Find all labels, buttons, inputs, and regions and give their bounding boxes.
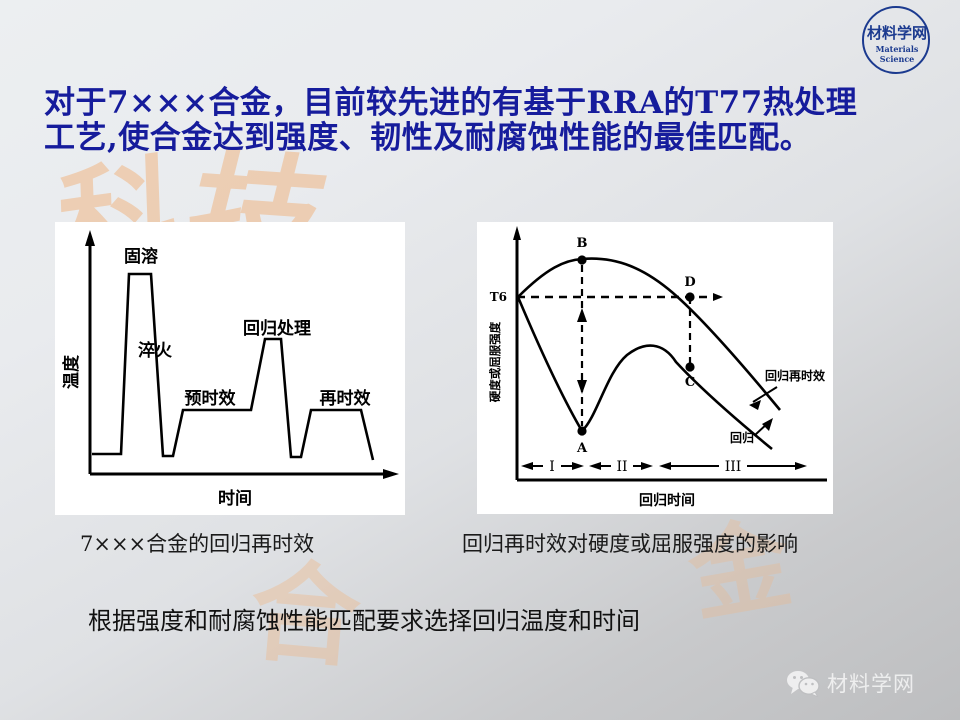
wechat-watermark: 材料学网 (786, 668, 915, 698)
ab-arrow-down-icon (577, 380, 587, 394)
headline-seg-b: 的 (664, 85, 696, 121)
heat-treatment-chart: 温度 时间 固溶 淬火 预时效 回归处理 再时效 (55, 222, 405, 515)
retrogression-effect-chart: T6 B A C D 回归再时效 回归 I (477, 222, 833, 514)
figure-heat-treatment-profile: 温度 时间 固溶 淬火 预时效 回归处理 再时效 (55, 222, 405, 515)
annotation-solution-treatment: 固溶 (124, 246, 158, 267)
wechat-icon (786, 669, 820, 697)
bottom-note: 根据强度和耐腐蚀性能匹配要求选择回归温度和时间 (88, 601, 640, 636)
figure-caption-left: 7×××合金的回归再时效 (80, 528, 314, 558)
x-axis-label: 回归时间 (639, 492, 695, 509)
annotation-retrogression: 回归处理 (243, 318, 311, 339)
logo-chinese-text: 材料学网 (864, 22, 930, 43)
brand-logo: 材料学网 Materials Science (854, 6, 942, 74)
page-title: 对于7×××合金，目前较先进的有基于RRA的T77热处理 工艺,使合金达到强度、… (44, 86, 914, 156)
point-label-d: D (684, 275, 695, 290)
y-axis-arrow-icon (513, 226, 521, 240)
temperature-profile-curve (92, 274, 373, 460)
headline-line-1: 对于7×××合金，目前较先进的有基于RRA的T77热处理 (44, 86, 914, 121)
data-point-d (685, 292, 694, 301)
figure-retrogression-effect: T6 B A C D 回归再时效 回归 I (477, 222, 833, 514)
region-markers: I II III (521, 459, 807, 475)
x-axis-arrow-icon (383, 469, 399, 479)
point-label-b: B (577, 236, 588, 251)
annotation-arrow-retro-icon (762, 418, 773, 431)
headline-emphasis-t77: T77 (695, 85, 763, 121)
annotation-re-aging: 再时效 (320, 388, 371, 409)
headline-seg-a: 对于7×××合金，目前较先进的有基于 (44, 85, 587, 121)
headline-emphasis-rra: RRA (587, 85, 664, 121)
wechat-watermark-text: 材料学网 (827, 668, 915, 698)
region-label-1-top: I (549, 459, 555, 475)
headline-line-2: 工艺,使合金达到强度、韧性及耐腐蚀性能的最佳匹配。 (44, 121, 914, 156)
figure-caption-right: 回归再时效对硬度或屈服强度的影响 (462, 528, 798, 558)
annotation-retrogression: 回归 (730, 430, 754, 445)
curve-retrogression (518, 297, 772, 449)
point-label-c: C (685, 375, 695, 390)
y-axis-label: 硬度或屈服强度 (488, 321, 502, 402)
point-label-a: A (576, 441, 588, 456)
annotation-leader-reaging (753, 387, 777, 402)
logo-english-text: Materials Science (858, 44, 936, 64)
y-axis-arrow-icon (85, 230, 95, 246)
data-point-b (577, 255, 586, 264)
annotation-pre-aging: 预时效 (185, 388, 236, 409)
t6-line-arrow-icon (713, 293, 723, 301)
data-point-c (685, 362, 694, 371)
annotation-retrogression-reaging: 回归再时效 (765, 368, 826, 383)
headline-seg-c: 热处理 (763, 85, 858, 121)
region-label-3-top: III (725, 459, 742, 475)
ab-arrow-up-icon (577, 308, 587, 322)
annotation-quenching: 淬火 (138, 340, 173, 361)
t6-label: T6 (490, 290, 507, 304)
data-point-a (577, 426, 586, 435)
x-axis-label: 时间 (218, 488, 252, 509)
y-axis-label: 温度 (61, 354, 82, 389)
region-label-2-top: II (616, 459, 627, 475)
